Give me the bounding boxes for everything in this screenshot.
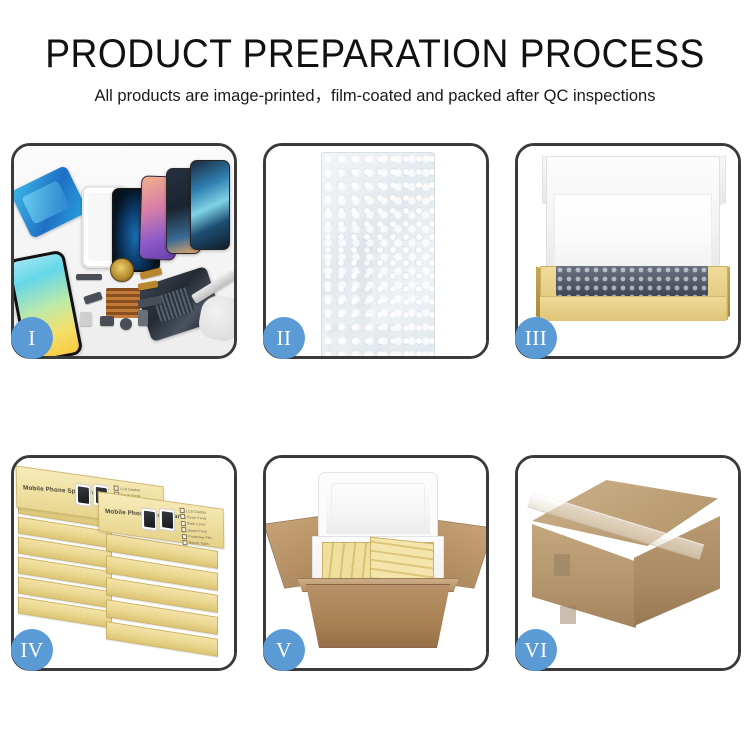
checklist-label: Spare Parts: [188, 528, 207, 533]
carton-seam-lower: [560, 606, 576, 624]
kraft-box-front-wall: [540, 296, 726, 321]
step-badge-6: VI: [515, 629, 557, 671]
box-artwork-phone-back: [159, 508, 175, 532]
checklist-label: Repair Tools: [189, 541, 209, 546]
foam-lid: [318, 472, 438, 542]
process-step-panel-6: VI: [515, 455, 741, 671]
copper-coil-component: [110, 258, 134, 282]
page-subtitle: All products are image-printed，film-coat…: [11, 84, 739, 108]
checklist-label: Protective Film: [188, 534, 212, 540]
checklist-label: LCD Display: [186, 509, 206, 514]
process-step-panel-5: V: [263, 455, 489, 671]
carton-front-wall: [296, 584, 460, 648]
step-badge-3: III: [515, 317, 557, 359]
small-chip-2: [83, 291, 103, 304]
checklist-label: Touch Panel: [187, 515, 207, 520]
checkbox-icon: [182, 540, 187, 545]
small-chip-1: [76, 274, 102, 280]
step-badge-2: II: [263, 317, 305, 359]
bubble-wrapped-contents: [556, 266, 708, 296]
checkbox-icon: [180, 514, 185, 519]
box-artwork-phone-front: [75, 483, 91, 507]
page-header: PRODUCT PREPARATION PROCESS All products…: [0, 0, 750, 130]
checklist-label: LCD Display: [120, 486, 140, 491]
page-title: PRODUCT PREPARATION PROCESS: [26, 30, 724, 78]
gradient-phone-teal: [190, 160, 230, 250]
foam-sheet: [554, 194, 712, 274]
checklist-label: Back Cover: [187, 522, 206, 527]
step-badge-5: V: [263, 629, 305, 671]
blue-adhesive-film: [14, 165, 88, 239]
small-chip-3: [80, 312, 92, 326]
bubble-wrap-bag: [321, 152, 435, 356]
process-step-panel-4: Mobile Phone Spare Parts LCD Display Tou…: [11, 455, 237, 671]
checkbox-icon: [181, 521, 186, 526]
step-badge-1: I: [11, 317, 53, 359]
small-chip-4: [100, 316, 114, 326]
checkbox-icon: [179, 508, 184, 513]
process-step-panel-1: I: [11, 143, 237, 359]
box-checklist: LCD Display Touch Panel Back Cover: [179, 508, 213, 547]
box-artwork-phone-front: [141, 507, 157, 531]
process-step-grid: I II: [0, 130, 750, 750]
checkbox-icon: [181, 527, 186, 532]
carton-seam-upper: [554, 554, 570, 576]
checkbox-icon: [113, 485, 118, 490]
process-step-panel-3: III: [515, 143, 741, 359]
checkbox-icon: [182, 534, 187, 539]
connector-grid-component: [106, 288, 140, 318]
process-step-panel-2: II: [263, 143, 489, 359]
step-badge-4: IV: [11, 629, 53, 671]
small-chip-6: [138, 310, 148, 326]
small-chip-5: [120, 318, 132, 330]
